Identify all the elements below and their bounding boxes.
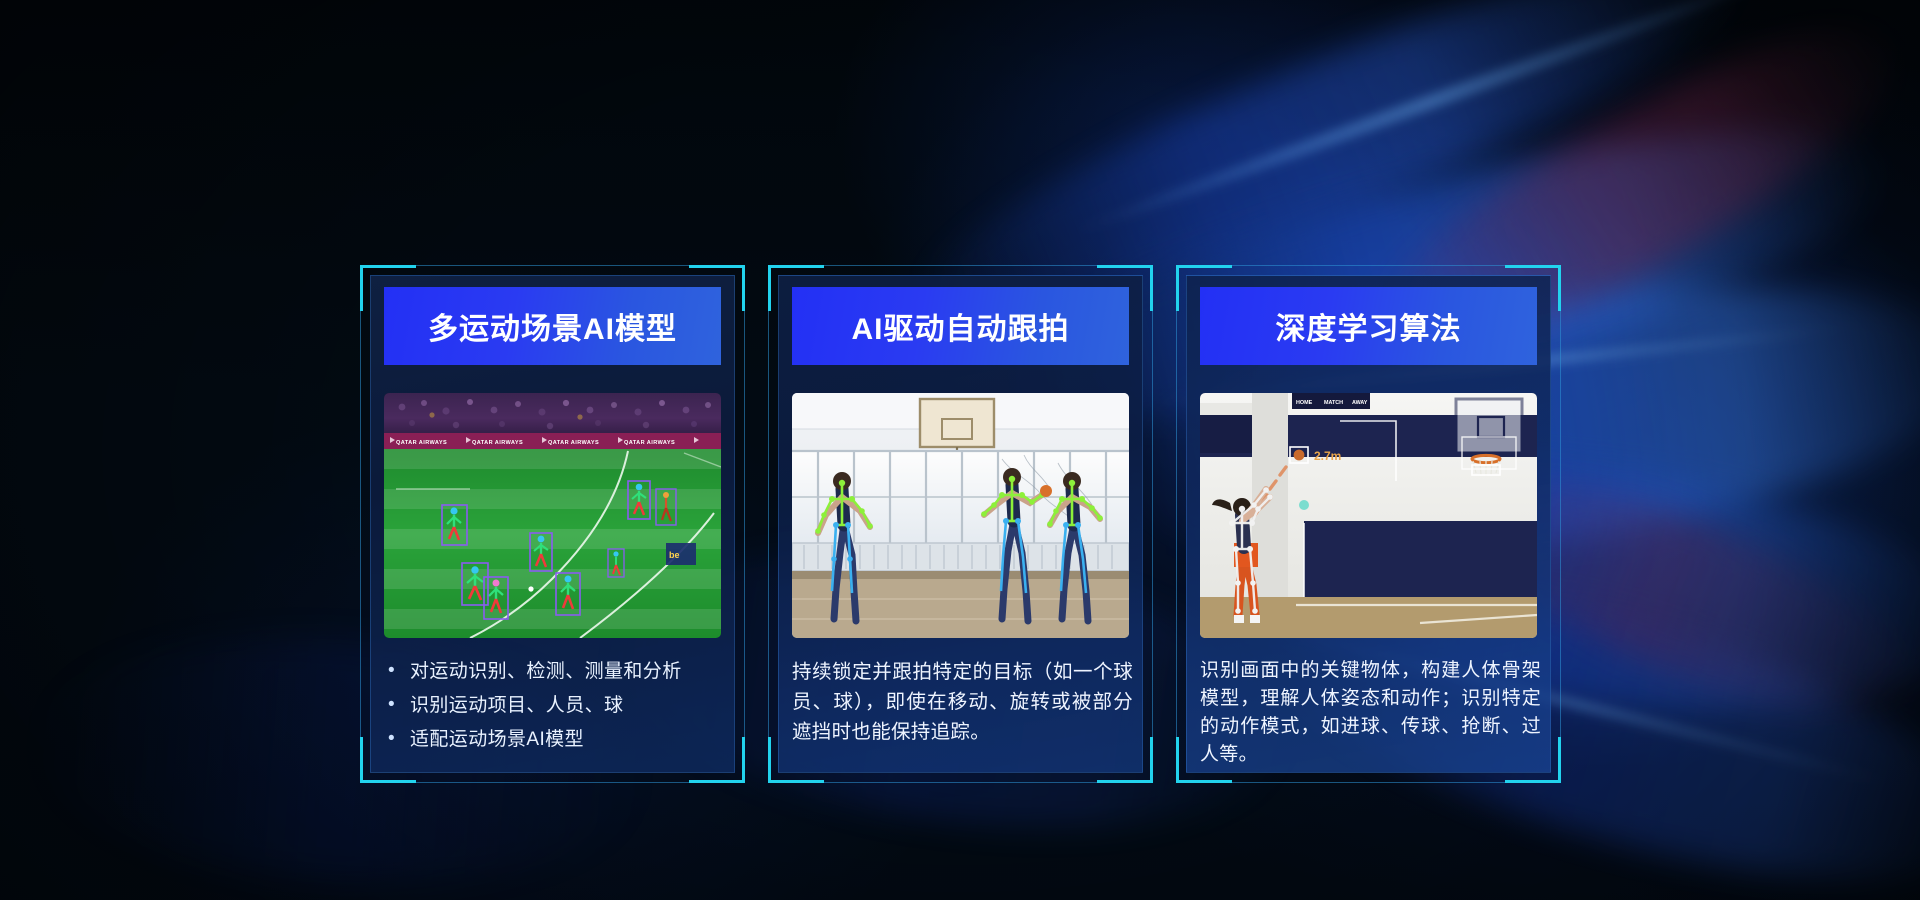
card-edge-bottom xyxy=(1232,782,1505,783)
svg-text:be: be xyxy=(669,550,680,560)
card-body: 持续锁定并跟拍特定的目标（如一个球员、球），即使在移动、旋转或被部分遮挡时也能保… xyxy=(792,657,1133,767)
card-description: 识别画面中的关键物体，构建人体骨架模型，理解人体姿态和动作；识别特定的动作模式，… xyxy=(1200,657,1541,769)
soccer-pose-detection-thumbnail: QATAR AIRWAYS QATAR AIRWAYS QATAR AIRWAY… xyxy=(384,393,721,638)
svg-text:HOME: HOME xyxy=(1296,400,1313,406)
svg-text:MATCH: MATCH xyxy=(1324,400,1343,406)
card-edge-bottom xyxy=(824,782,1097,783)
card-title-banner: 多运动场景AI模型 xyxy=(384,287,721,365)
feature-card-row: 多运动场景AI模型 xyxy=(0,0,1920,900)
card-edge-bottom xyxy=(416,782,689,783)
feature-bullet-list: 对运动识别、检测、测量和分析 识别运动项目、人员、球 适配运动场景AI模型 xyxy=(384,657,725,754)
card-body: 识别画面中的关键物体，构建人体骨架模型，理解人体姿态和动作；识别特定的动作模式，… xyxy=(1200,657,1541,767)
list-item: 对运动识别、检测、测量和分析 xyxy=(384,657,725,686)
feature-card-deep-learning-algorithm[interactable]: 深度学习算法 HOMEMAT xyxy=(1176,265,1561,783)
card-edge-right xyxy=(1152,311,1153,737)
card-edge-left xyxy=(768,311,769,737)
card-edge-left xyxy=(360,311,361,737)
svg-text:2.7m: 2.7m xyxy=(1314,449,1341,463)
card-title: 深度学习算法 xyxy=(1276,304,1462,348)
basketball-shot-tracking-thumbnail: HOMEMATCHAWAY xyxy=(1200,393,1537,638)
gym-player-skeleton-tracking-thumbnail xyxy=(792,393,1129,638)
card-edge-top xyxy=(824,265,1097,266)
card-edge-right xyxy=(1560,311,1561,737)
card-body: 对运动识别、检测、测量和分析 识别运动项目、人员、球 适配运动场景AI模型 xyxy=(384,657,725,767)
card-title: 多运动场景AI模型 xyxy=(428,304,677,348)
card-edge-left xyxy=(1176,311,1177,737)
list-item: 识别运动项目、人员、球 xyxy=(384,691,725,720)
card-title: AI驱动自动跟拍 xyxy=(852,304,1070,348)
svg-text:QATAR AIRWAYS: QATAR AIRWAYS xyxy=(548,440,599,446)
feature-card-ai-auto-tracking-shot[interactable]: AI驱动自动跟拍 xyxy=(768,265,1153,783)
svg-text:QATAR AIRWAYS: QATAR AIRWAYS xyxy=(624,440,675,446)
list-item: 适配运动场景AI模型 xyxy=(384,725,725,754)
svg-text:QATAR AIRWAYS: QATAR AIRWAYS xyxy=(472,440,523,446)
svg-text:AWAY: AWAY xyxy=(1352,400,1368,406)
card-edge-top xyxy=(416,265,689,266)
svg-text:QATAR AIRWAYS: QATAR AIRWAYS xyxy=(396,440,447,446)
card-edge-top xyxy=(1232,265,1505,266)
card-title-banner: 深度学习算法 xyxy=(1200,287,1537,365)
feature-card-multi-sport-ai-model[interactable]: 多运动场景AI模型 xyxy=(360,265,745,783)
card-description: 持续锁定并跟拍特定的目标（如一个球员、球），即使在移动、旋转或被部分遮挡时也能保… xyxy=(792,657,1133,747)
card-title-banner: AI驱动自动跟拍 xyxy=(792,287,1129,365)
card-edge-right xyxy=(744,311,745,737)
